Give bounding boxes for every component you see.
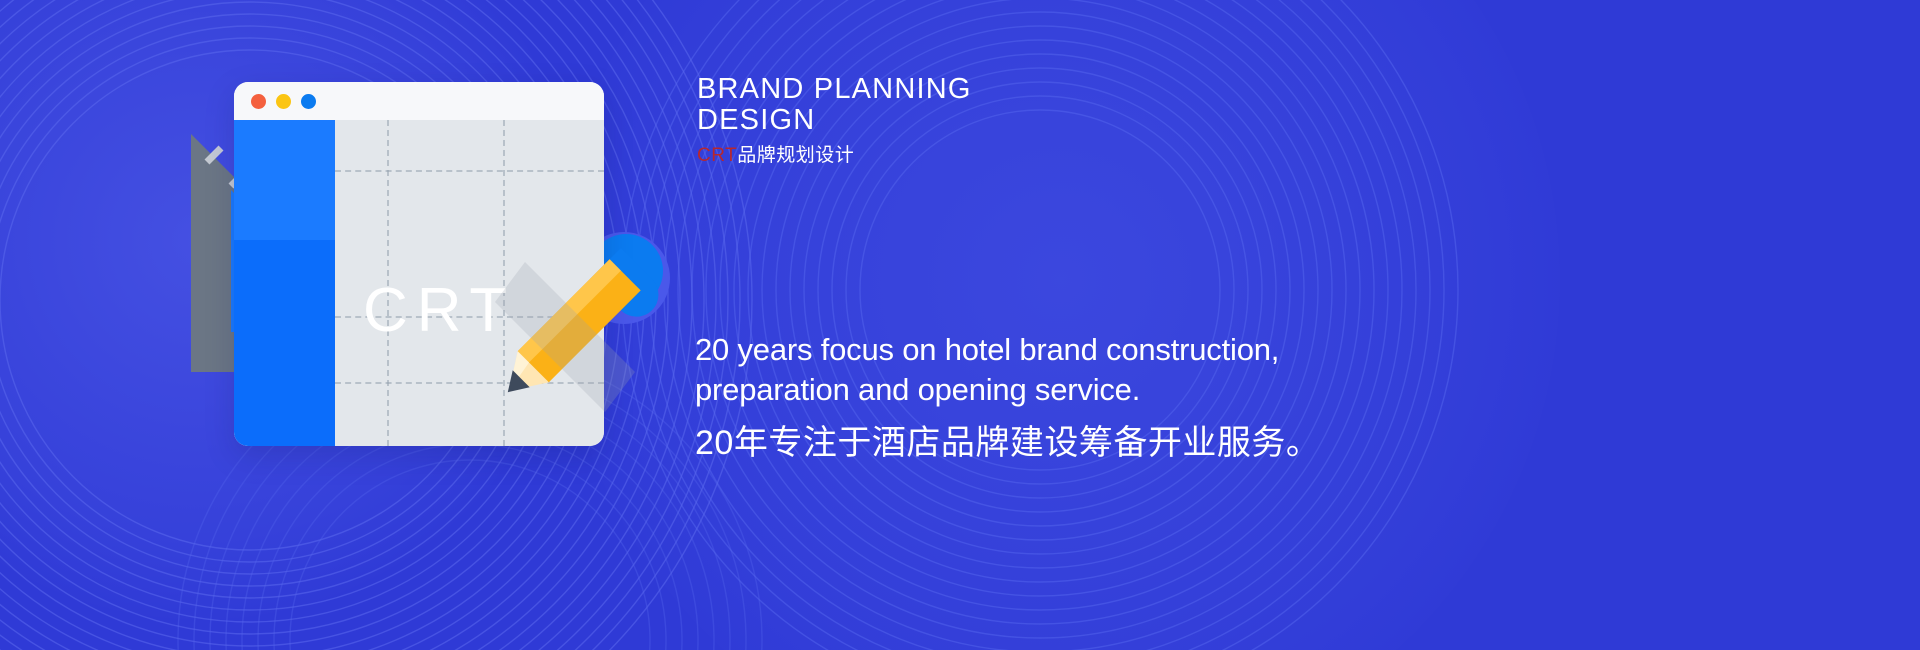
tagline-chinese: 20年专注于酒店品牌建设筹备开业服务。 <box>695 423 1415 464</box>
window-control-dots <box>251 94 316 109</box>
tagline-block: 20 years focus on hotel brand constructi… <box>695 330 1415 464</box>
subtitle-text: 品牌规划设计 <box>737 145 854 166</box>
subtitle-accent: CRT <box>697 145 737 166</box>
heading-block: BRAND PLANNING DESIGN CRT品牌规划设计 <box>697 74 1297 167</box>
maximize-dot <box>301 94 316 109</box>
window-sidebar-panel <box>234 120 335 446</box>
brand-design-illustration: CRT <box>185 82 685 482</box>
window-sidebar-highlight <box>234 120 335 240</box>
page-subtitle: CRT品牌规划设计 <box>697 145 1297 168</box>
brand-banner: CRT <box>0 0 1920 650</box>
close-dot <box>251 94 266 109</box>
minimize-dot <box>276 94 291 109</box>
pencil-shadow <box>485 262 685 462</box>
page-title: BRAND PLANNING DESIGN <box>697 74 1297 137</box>
tagline-english: 20 years focus on hotel brand constructi… <box>695 330 1415 409</box>
window-titlebar <box>234 82 604 120</box>
